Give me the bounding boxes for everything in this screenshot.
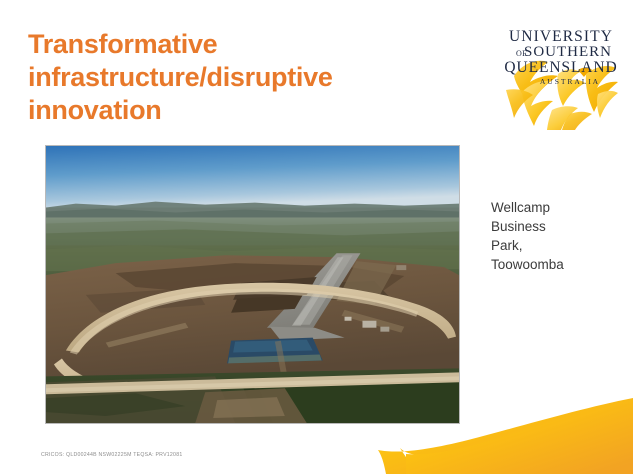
logo-line-australia: AUSTRALIA	[540, 77, 600, 86]
photo-caption: Wellcamp Business Park, Toowoomba	[491, 198, 626, 275]
sky	[46, 146, 459, 208]
logo-line-university: UNIVERSITY	[509, 28, 613, 45]
aerial-photo	[45, 145, 460, 424]
logo-line-queensland: QUEENSLAND	[504, 59, 617, 76]
site-building	[362, 321, 376, 328]
page-title: Transformative infrastructure/disruptive…	[28, 28, 458, 128]
slide-canvas: Transformative infrastructure/disruptive…	[0, 0, 633, 474]
footer-accreditation-text: CRICOS: QLD00244B NSW02225M TEQSA: PRV12…	[41, 452, 182, 458]
university-logo: UNIVERSITY OF SOUTHERN QUEENSLAND AUSTRA…	[500, 18, 622, 130]
logo-line-southern: SOUTHERN	[524, 44, 612, 60]
